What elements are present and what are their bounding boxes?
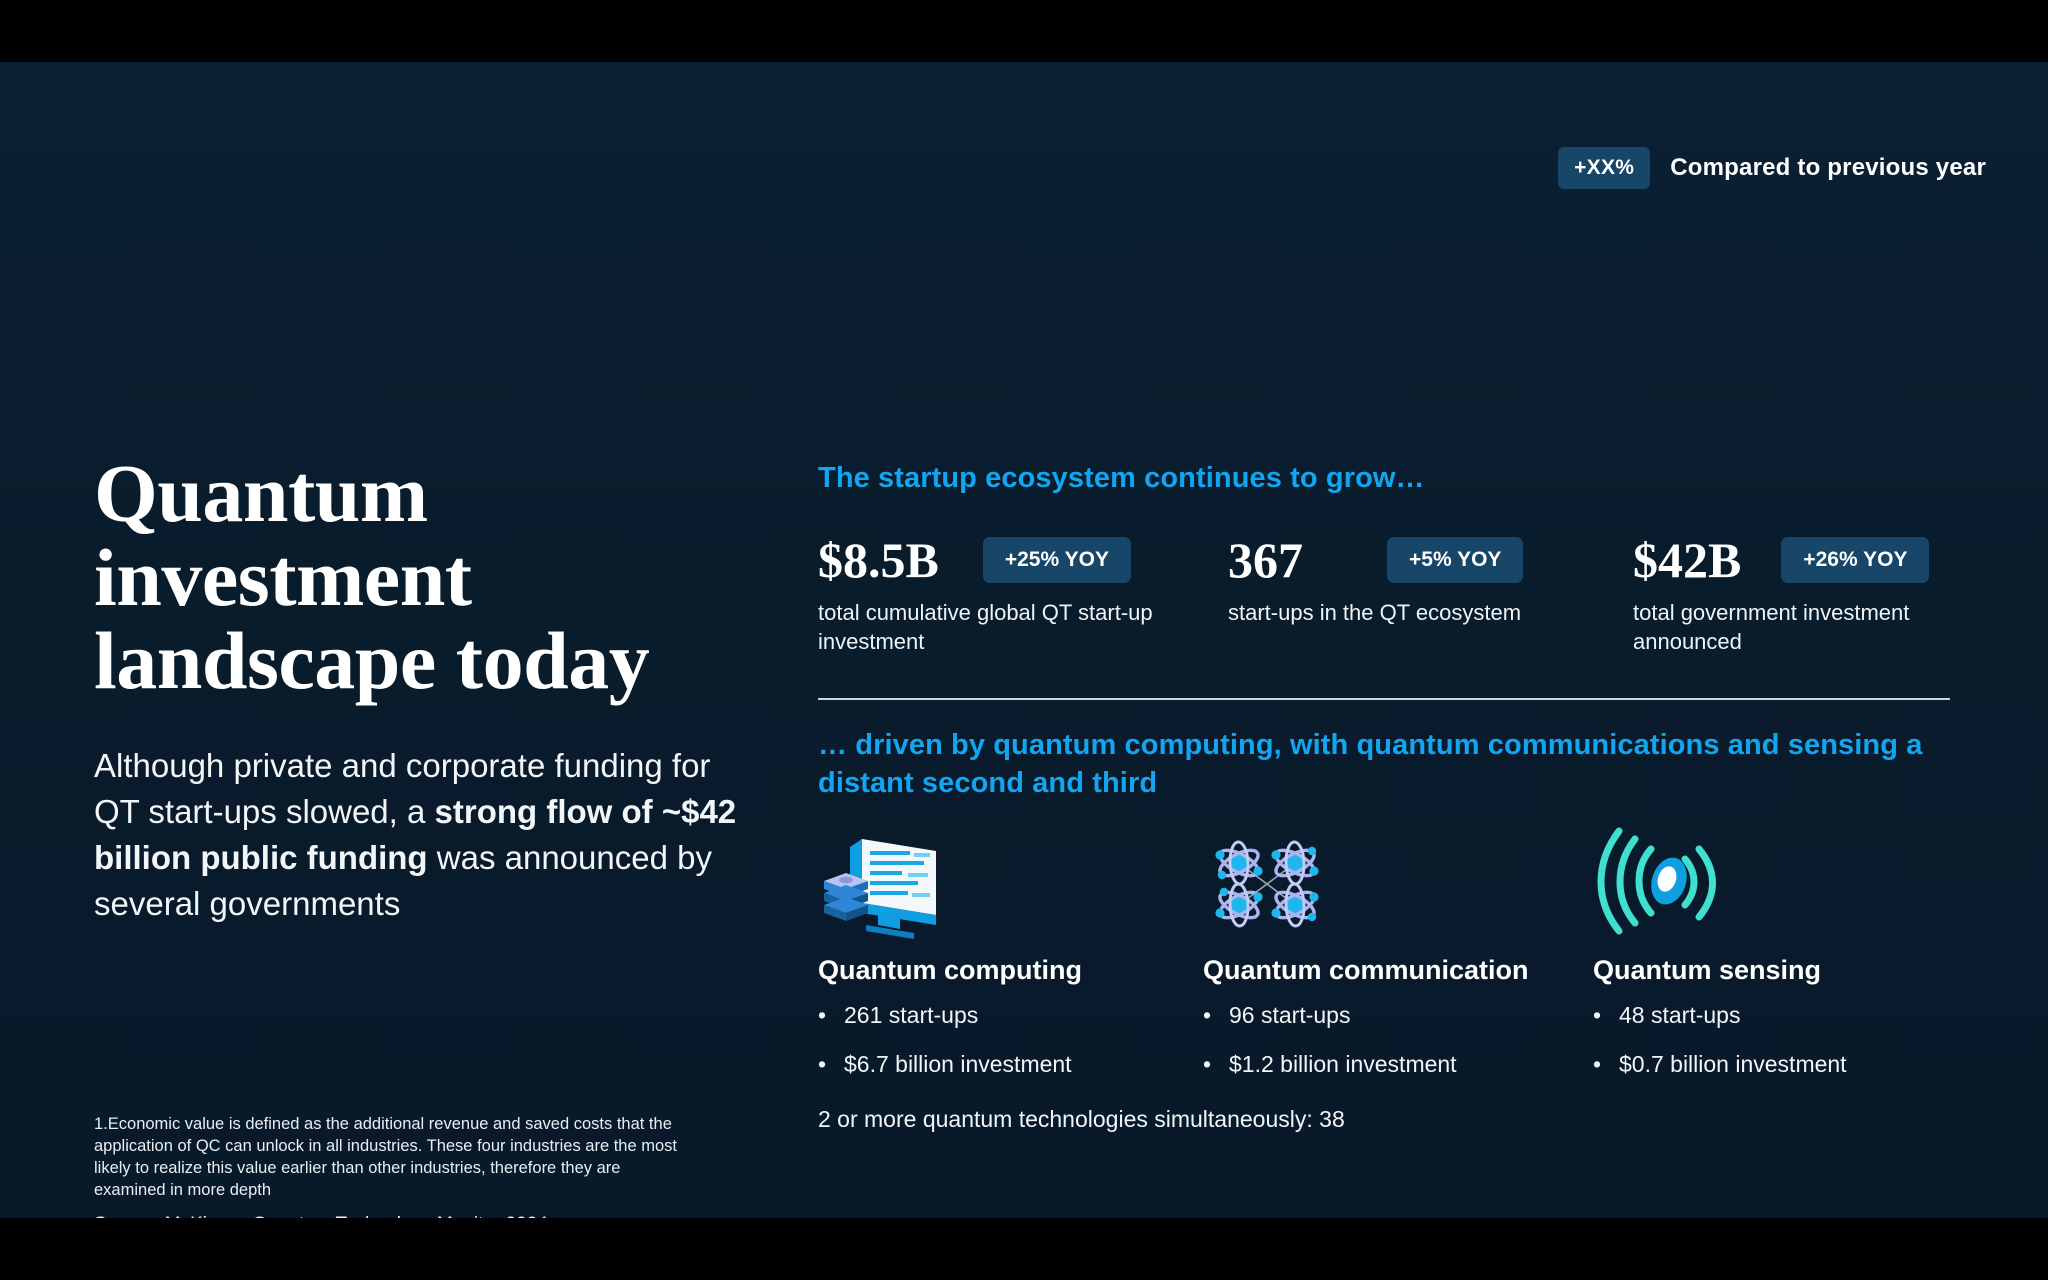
list-item: • $0.7 billion investment (1593, 1051, 1933, 1078)
footnote: 1.Economic value is defined as the addit… (94, 1114, 684, 1202)
list-item: • 48 start-ups (1593, 1002, 1933, 1029)
left-column: Quantum investment landscape today Altho… (94, 452, 754, 928)
tech-name: Quantum sensing (1593, 955, 1933, 986)
legend-badge: +XX% (1558, 147, 1650, 189)
kpi-card: 367 +5% YOY start-ups in the QT ecosyste… (1228, 535, 1633, 656)
atoms-network-icon (1203, 821, 1593, 939)
lede-paragraph: Although private and corporate funding f… (94, 743, 754, 928)
list-item: • 261 start-ups (818, 1002, 1203, 1029)
kpi-card: $8.5B +25% YOY total cumulative global Q… (818, 535, 1228, 656)
kpi-value: 367 (1228, 535, 1303, 585)
tech-bullets: • 261 start-ups • $6.7 billion investmen… (818, 1002, 1203, 1078)
bullet-glyph: • (1203, 1051, 1229, 1078)
list-item: • 96 start-ups (1203, 1002, 1593, 1029)
bullet-text: 48 start-ups (1619, 1002, 1740, 1029)
section-heading-startups: The startup ecosystem continues to grow… (818, 462, 1953, 495)
bullet-text: 96 start-ups (1229, 1002, 1350, 1029)
signal-waves-sensor-icon (1593, 821, 1933, 939)
multi-tech-note: 2 or more quantum technologies simultane… (818, 1106, 1953, 1133)
kpi-yoy-badge: +25% YOY (983, 537, 1131, 583)
computer-monitor-server-icon (818, 821, 1203, 939)
bullet-text: $1.2 billion investment (1229, 1051, 1457, 1078)
tech-column-sensing: Quantum sensing • 48 start-ups • $0.7 bi… (1593, 821, 1933, 1100)
list-item: • $6.7 billion investment (818, 1051, 1203, 1078)
right-column: The startup ecosystem continues to grow…… (818, 462, 1953, 1133)
letterbox-top (0, 0, 2048, 62)
slide-stage: +XX% Compared to previous year Quantum i… (0, 0, 2048, 1280)
kpi-value: $42B (1633, 535, 1741, 585)
kpi-subtitle: total cumulative global QT start-up inve… (818, 599, 1228, 656)
tech-name: Quantum computing (818, 955, 1203, 986)
legend: +XX% Compared to previous year (1558, 147, 1986, 189)
slide-canvas: +XX% Compared to previous year Quantum i… (0, 62, 2048, 1218)
technology-columns: Quantum computing • 261 start-ups • $6.7… (818, 821, 1953, 1100)
bullet-glyph: • (818, 1051, 844, 1078)
bullet-glyph: • (1593, 1051, 1619, 1078)
tech-bullets: • 48 start-ups • $0.7 billion investment (1593, 1002, 1933, 1078)
page-title: Quantum investment landscape today (94, 452, 754, 703)
kpi-card: $42B +26% YOY total government investmen… (1633, 535, 1953, 656)
section-heading-drivers: … driven by quantum computing, with quan… (818, 726, 1953, 803)
bullet-text: $6.7 billion investment (844, 1051, 1072, 1078)
bullet-glyph: • (1203, 1002, 1229, 1029)
kpi-yoy-badge: +26% YOY (1781, 537, 1929, 583)
list-item: • $1.2 billion investment (1203, 1051, 1593, 1078)
bullet-text: $0.7 billion investment (1619, 1051, 1847, 1078)
tech-name: Quantum communication (1203, 955, 1593, 986)
bullet-glyph: • (818, 1002, 844, 1029)
bullet-glyph: • (1593, 1002, 1619, 1029)
kpi-row: $8.5B +25% YOY total cumulative global Q… (818, 535, 1953, 656)
legend-label: Compared to previous year (1670, 154, 1986, 182)
tech-column-communication: Quantum communication • 96 start-ups • $… (1203, 821, 1593, 1100)
kpi-subtitle: total government investment announced (1633, 599, 1953, 656)
tech-bullets: • 96 start-ups • $1.2 billion investment (1203, 1002, 1593, 1078)
letterbox-bottom (0, 1218, 2048, 1280)
section-divider (818, 698, 1950, 700)
kpi-value: $8.5B (818, 535, 939, 585)
kpi-subtitle: start-ups in the QT ecosystem (1228, 599, 1633, 628)
bullet-text: 261 start-ups (844, 1002, 978, 1029)
kpi-yoy-badge: +5% YOY (1387, 537, 1523, 583)
tech-column-computing: Quantum computing • 261 start-ups • $6.7… (818, 821, 1203, 1100)
